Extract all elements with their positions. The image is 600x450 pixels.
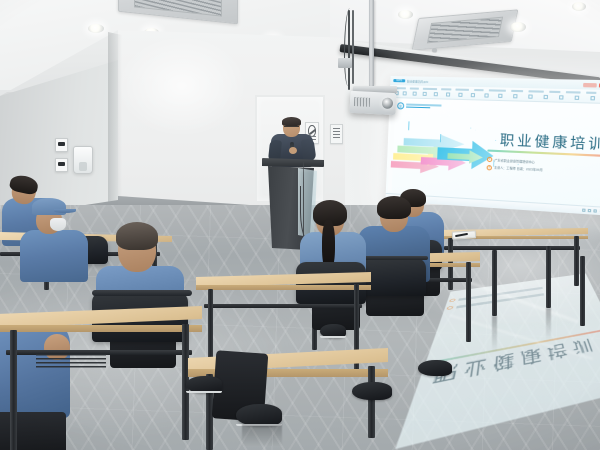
shoe — [418, 360, 452, 376]
projector-cable-secondary — [352, 10, 354, 84]
vent-louvers — [427, 16, 504, 43]
shoe-reflection — [242, 424, 282, 446]
bullet-text: 广东省职业健康管理培训中心 — [494, 158, 535, 164]
projector-mount-pole — [369, 0, 374, 86]
desk-leg — [368, 366, 375, 438]
view-mode-icon[interactable] — [588, 209, 592, 212]
bullet-icon: 1 — [487, 157, 493, 162]
ceiling-projector — [349, 91, 396, 115]
light-switch-panel-upper[interactable] — [55, 138, 68, 152]
document-name: 职业健康培训.pptx — [407, 79, 428, 83]
desk-rail — [204, 304, 362, 308]
slide-arrow-artwork — [390, 110, 523, 196]
notice-text-lines — [333, 128, 341, 140]
desk-leg — [10, 330, 17, 450]
logo-wordmark — [406, 103, 442, 109]
shoe — [352, 382, 392, 400]
desk-leg — [580, 256, 585, 326]
view-mode-icon[interactable] — [594, 209, 598, 212]
presenter-hand — [289, 147, 297, 154]
shoe — [236, 404, 282, 426]
desk-leg — [492, 250, 497, 316]
switch-rocker[interactable] — [58, 162, 65, 166]
toolbar-chip[interactable] — [583, 82, 597, 87]
downlight-icon — [88, 24, 104, 33]
wall-corner-shadow — [108, 30, 122, 225]
chair-backrest — [92, 290, 192, 296]
attendee-hair — [116, 222, 158, 250]
desk-leg — [466, 262, 471, 342]
projector-cable — [348, 10, 350, 90]
desk-leg — [546, 246, 551, 308]
downlight-icon — [510, 22, 526, 32]
desk-front-left — [0, 306, 202, 450]
downlight-icon — [572, 2, 586, 11]
notice-sheet — [330, 124, 343, 144]
desk-edge — [196, 285, 371, 290]
leg-reflection — [546, 308, 551, 340]
shoe — [186, 376, 222, 393]
glasses-icon — [284, 126, 299, 129]
face-mask — [50, 218, 66, 231]
attendee-cap — [20, 198, 90, 308]
book-rack — [36, 354, 106, 368]
leg-reflection — [492, 316, 497, 352]
shoe-sole — [186, 391, 222, 394]
view-mode-icon[interactable] — [582, 209, 586, 212]
desk-leg — [574, 236, 579, 286]
cap-brim — [54, 209, 76, 213]
cable-bracket — [338, 58, 352, 68]
light-switch-panel-lower[interactable] — [55, 158, 68, 172]
app-tab[interactable]: WPS — [393, 79, 405, 82]
downlight-icon — [398, 10, 413, 19]
vent-louvers — [134, 0, 221, 16]
bullet-text: 主讲人：工程师 日期：2023年05月 — [494, 165, 543, 172]
attendee-hair — [377, 196, 411, 219]
desk-rail — [444, 246, 580, 250]
sprinkler-icon — [432, 48, 437, 52]
switch-rocker[interactable] — [58, 142, 65, 146]
desk-edge — [0, 325, 202, 332]
classroom-photo: 职业健康培训 WPS 职业健康培训.pptx — [0, 0, 600, 450]
logo-icon: 安 — [397, 102, 404, 109]
attendee-torso — [20, 230, 88, 282]
hand-sanitizer-dispenser[interactable] — [73, 146, 93, 174]
podium-top — [262, 158, 324, 167]
bullet-icon: 2 — [487, 165, 493, 170]
projector-vent — [354, 97, 370, 107]
projector-lens-icon — [382, 97, 394, 109]
